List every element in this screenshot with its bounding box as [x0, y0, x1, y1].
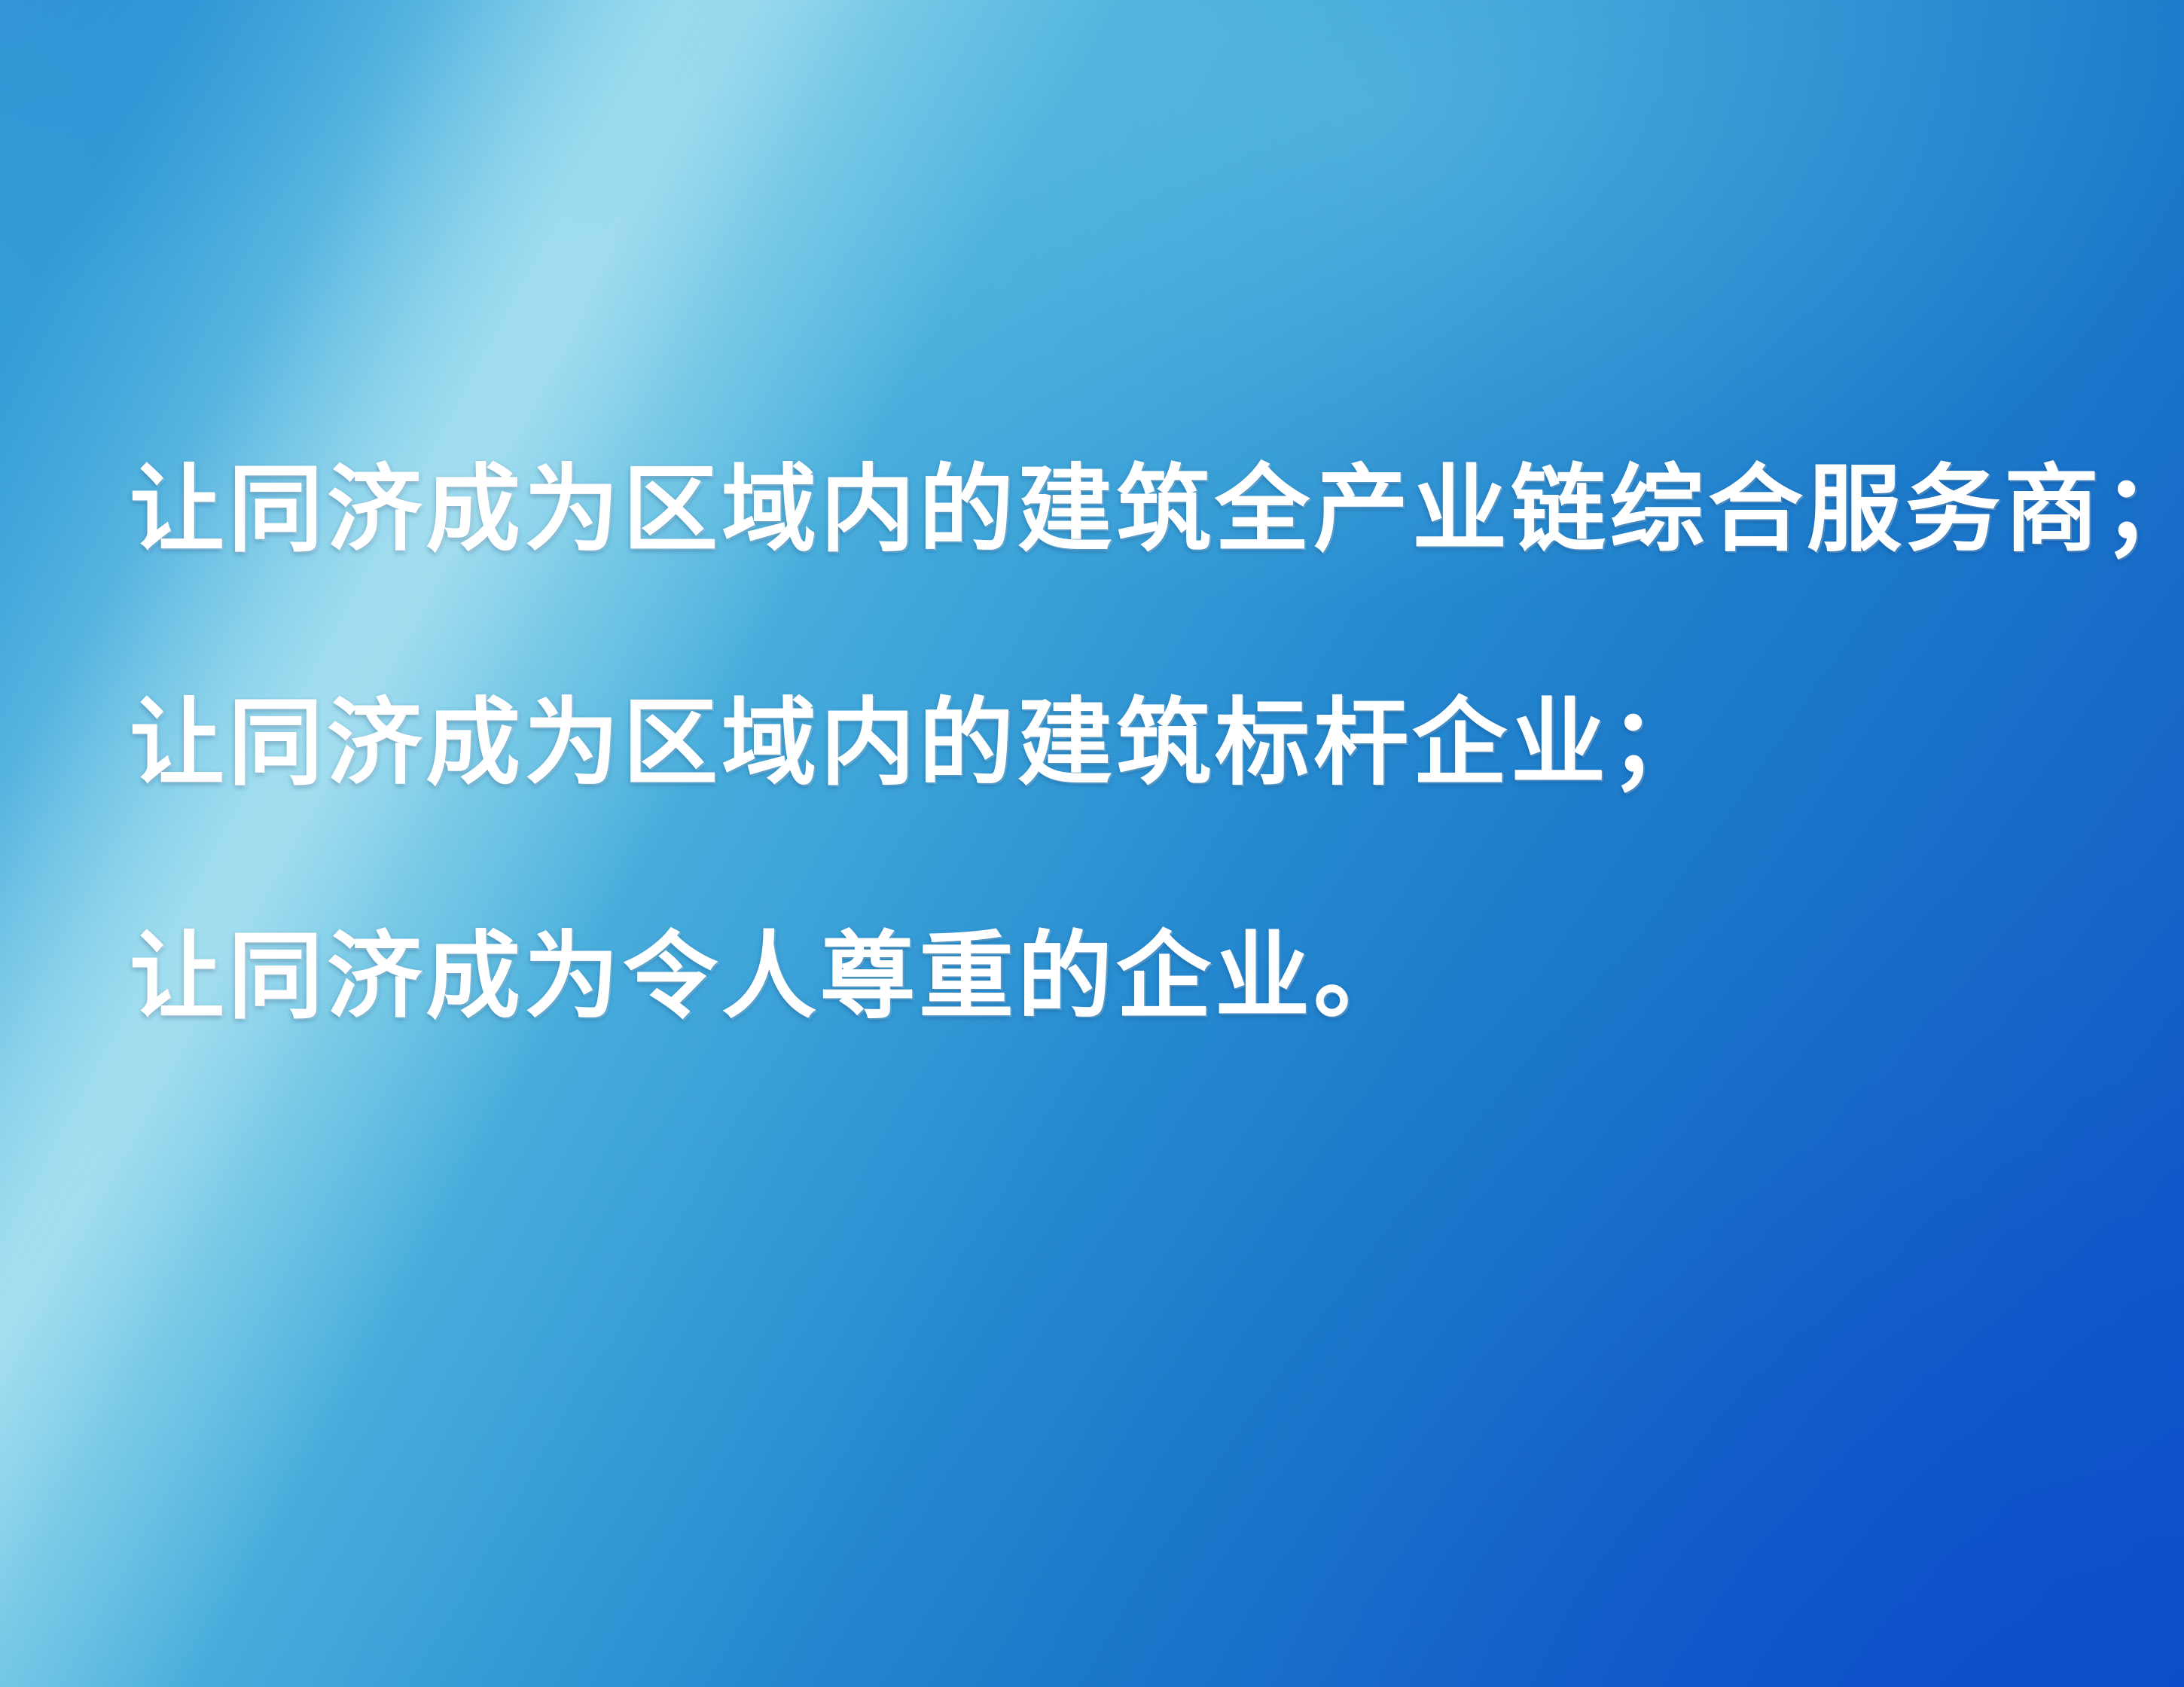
slide-line-1: 让同济成为区域内的建筑全产业链综合服务商；	[130, 449, 2057, 569]
slide-canvas: 让同济成为区域内的建筑全产业链综合服务商； 让同济成为区域内的建筑标杆企业； 让…	[0, 0, 2184, 1687]
slide-line-2: 让同济成为区域内的建筑标杆企业；	[130, 682, 2057, 803]
slide-line-3: 让同济成为令人尊重的企业。	[130, 916, 2057, 1036]
slide-text-block: 让同济成为区域内的建筑全产业链综合服务商； 让同济成为区域内的建筑标杆企业； 让…	[130, 449, 2057, 1036]
